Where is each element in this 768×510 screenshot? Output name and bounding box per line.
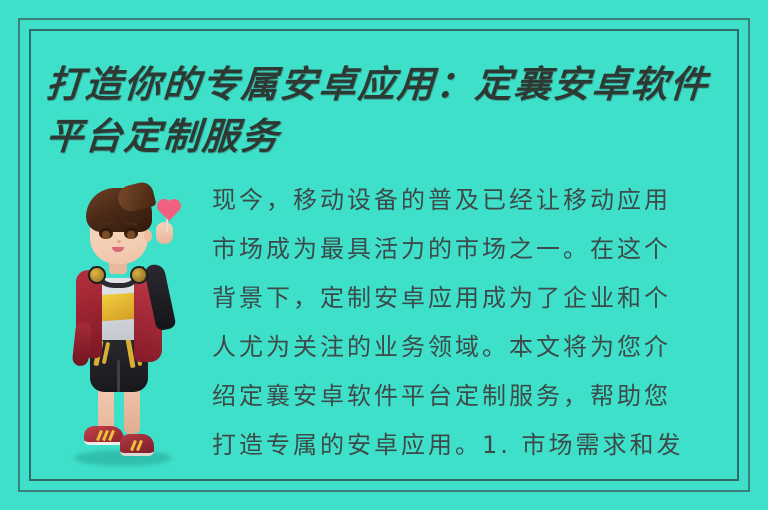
headphones-right-cup-icon [130, 266, 148, 284]
character-nose [117, 240, 121, 243]
chibi-boy-character-illustration [62, 182, 190, 474]
character-right-eye [124, 228, 138, 239]
title-line-1: 打造你的专属安卓应用：定襄安卓软件 [44, 58, 738, 110]
heart-lollipop-icon [159, 201, 179, 221]
poster-body-text: 现今，移动设备的普及已经让移动应用 市场成为最具活力的市场之一。在这个 背景下，… [212, 176, 728, 470]
character-shorts-split [117, 360, 120, 392]
body-line-6: 打造专属的安卓应用。1. 市场需求和发 [212, 421, 728, 470]
poster-title: 打造你的专属安卓应用：定襄安卓软件 平台定制服务 [46, 58, 736, 162]
character-ear [144, 230, 152, 242]
body-line-5: 绍定襄安卓软件平台定制服务，帮助您 [212, 372, 728, 421]
body-line-1: 现今，移动设备的普及已经让移动应用 [212, 176, 728, 225]
character-left-eye [99, 228, 113, 239]
body-line-3: 背景下，定制安卓应用成为了企业和个 [212, 274, 728, 323]
body-line-4: 人尤为关注的业务领域。本文将为您介 [212, 323, 728, 372]
character-left-shoe [84, 426, 124, 445]
character-right-shoe [120, 434, 154, 456]
title-line-2: 平台定制服务 [44, 110, 738, 162]
headphones-left-cup-icon [88, 266, 106, 284]
poster-canvas: 打造你的专属安卓应用：定襄安卓软件 平台定制服务 [0, 0, 768, 510]
body-line-2: 市场成为最具活力的市场之一。在这个 [212, 225, 728, 274]
character-right-hand [156, 222, 173, 244]
